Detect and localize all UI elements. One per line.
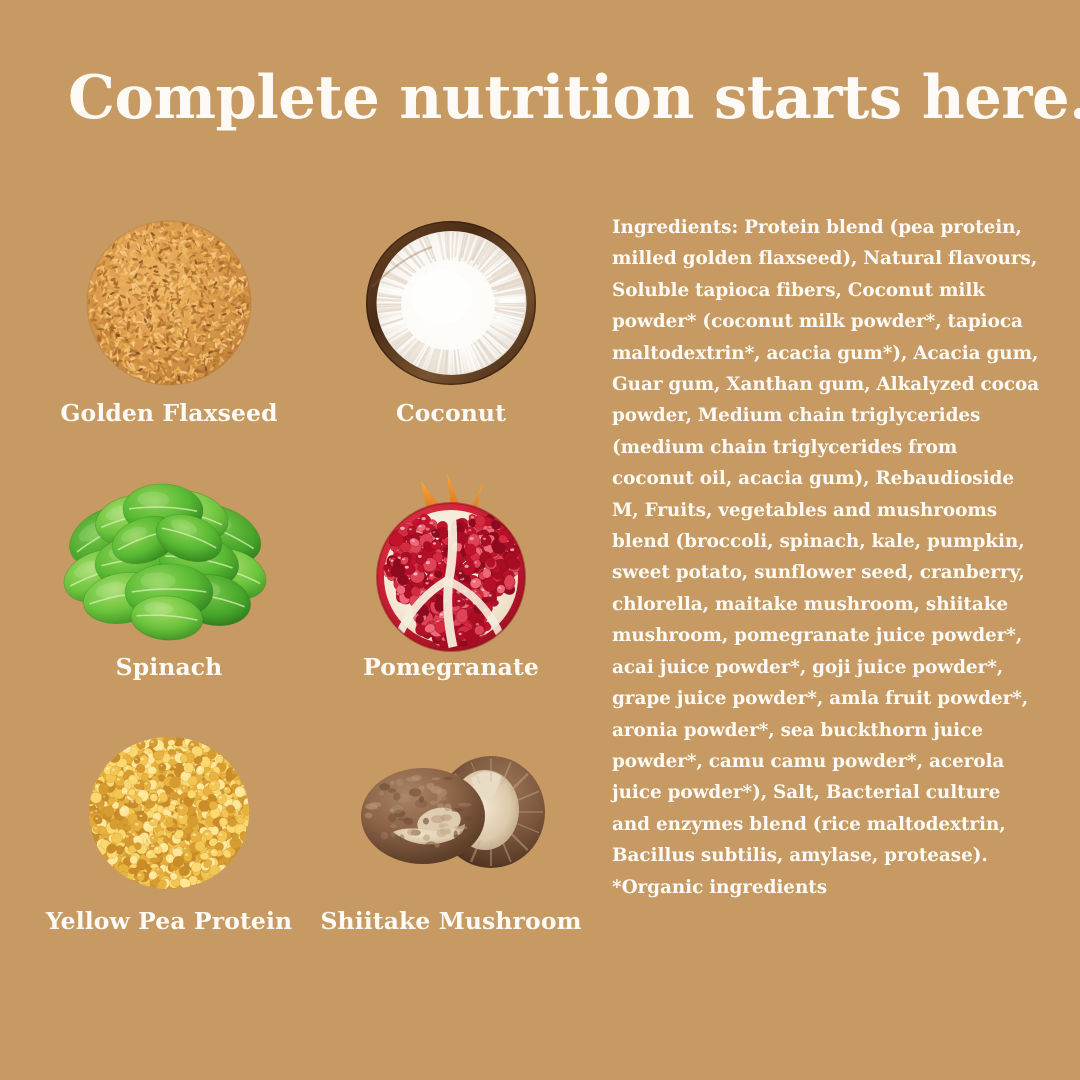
ingredient-grid: Golden Flaxseed bbox=[28, 205, 593, 965]
ingredient-card-coconut: Coconut bbox=[310, 205, 592, 458]
coconut-half-image bbox=[310, 205, 592, 401]
ingredient-card-shiitake-mushroom: Shiitake Mushroom bbox=[310, 713, 592, 966]
ingredients-footnote: *Organic ingredients bbox=[612, 872, 1040, 903]
spinach-leaves-image bbox=[28, 459, 310, 655]
ingredients-label: Ingredients: bbox=[612, 217, 738, 238]
ingredient-label: Pomegranate bbox=[302, 653, 600, 681]
mushroom-left bbox=[361, 768, 485, 864]
ingredient-card-yellow-pea-protein: Yellow Pea Protein bbox=[28, 713, 310, 966]
ingredient-card-pomegranate: Pomegranate bbox=[310, 459, 592, 712]
ingredients-panel: Ingredients: Protein blend (pea protein,… bbox=[612, 212, 1040, 903]
ingredient-card-spinach: Spinach bbox=[28, 459, 310, 712]
ingredient-label: Coconut bbox=[302, 399, 600, 427]
ingredient-label: Shiitake Mushroom bbox=[302, 907, 600, 935]
yellow-split-peas-image bbox=[28, 713, 310, 909]
product-ingredients-poster: Complete nutrition starts here. bbox=[0, 0, 1080, 1080]
ingredient-label: Yellow Pea Protein bbox=[20, 907, 318, 935]
pomegranate-half-image bbox=[310, 459, 592, 655]
golden-flaxseed-image bbox=[28, 205, 310, 401]
ingredient-card-golden-flaxseed: Golden Flaxseed bbox=[28, 205, 310, 458]
ingredient-label: Spinach bbox=[20, 653, 318, 681]
ingredient-label: Golden Flaxseed bbox=[20, 399, 318, 427]
ingredients-body: Protein blend (pea protein, milled golde… bbox=[612, 217, 1039, 866]
page-title: Complete nutrition starts here. bbox=[68, 68, 1014, 128]
shiitake-mushroom-image bbox=[310, 713, 592, 909]
